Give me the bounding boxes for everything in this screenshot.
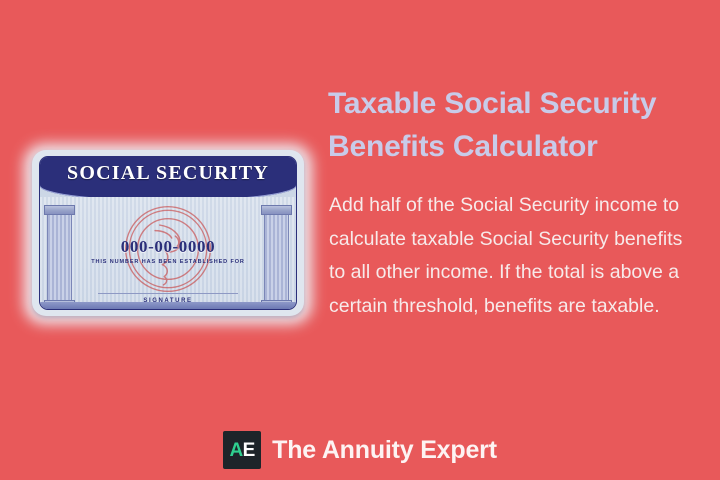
- page-title: Taxable Social Security Benefits Calcula…: [328, 82, 714, 168]
- pillar-right-icon: [263, 205, 290, 310]
- promo-graphic: SOCIAL SECURITY: [0, 0, 720, 480]
- social-security-card: SOCIAL SECURITY: [32, 150, 304, 316]
- body-description: Add half of the Social Security income t…: [329, 189, 701, 323]
- card-footer-bar: [40, 302, 296, 309]
- pillar-left-icon: [46, 205, 73, 310]
- card-inner-frame: SOCIAL SECURITY: [39, 156, 297, 310]
- card-body: 000-00-0000 THIS NUMBER HAS BEEN ESTABLI…: [40, 197, 296, 309]
- brand-name: The Annuity Expert: [272, 436, 497, 465]
- card-ssn-number: 000-00-0000: [40, 237, 296, 257]
- card-title: SOCIAL SECURITY: [40, 162, 296, 185]
- annuity-expert-logo-icon: AE: [223, 431, 261, 469]
- signature-line: [98, 293, 238, 294]
- logo-letter-e: E: [243, 441, 255, 460]
- brand-lockup: AE The Annuity Expert: [0, 428, 720, 472]
- social-security-card-illustration: SOCIAL SECURITY: [18, 138, 318, 330]
- logo-letter-a: A: [229, 441, 242, 460]
- card-ssn-note: THIS NUMBER HAS BEEN ESTABLISHED FOR: [40, 259, 296, 265]
